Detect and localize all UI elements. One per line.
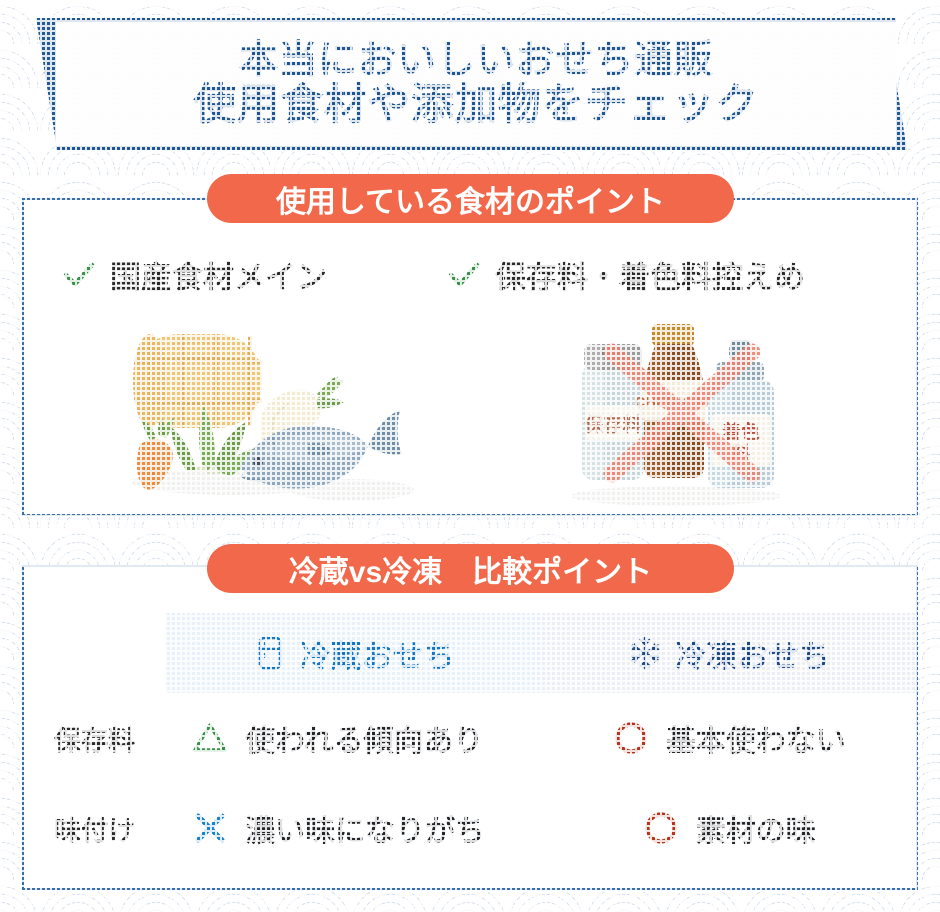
cell-chilled-seasoning: 濃い味になりがち — [165, 783, 542, 873]
table-row: 味付け 濃い味になりがち 素材の味 — [24, 783, 916, 873]
japanese-ingredients-illustration — [112, 322, 424, 508]
checklist-label-additives: 保存料・着色料控えめ — [495, 252, 805, 297]
circle-mark-icon — [612, 719, 650, 757]
circle-mark-icon — [642, 809, 680, 847]
check-icon — [62, 258, 96, 292]
cell-chilled-preservatives-text: 使われる傾向あり — [245, 716, 484, 760]
title-ribbon: 本当においしいおせち通販 使用食材や添加物をチェック — [0, 18, 940, 150]
table-corner-blank — [24, 613, 165, 693]
cell-frozen-preservatives-text: 基本使わない — [666, 716, 846, 760]
cell-frozen-seasoning-text: 素材の味 — [696, 806, 816, 850]
rice-bale-icon — [133, 334, 262, 428]
refrigerator-icon — [252, 635, 288, 671]
checklist-item-additives: 保存料・着色料控えめ — [447, 252, 805, 297]
table-header-row: 冷蔵おせち — [24, 613, 916, 693]
svg-text:着色: 着色 — [722, 420, 760, 443]
row-label-seasoning: 味付け — [24, 783, 165, 873]
table-header-chilled: 冷蔵おせち — [165, 613, 542, 693]
table-header-chilled-label: 冷蔵おせち — [300, 631, 455, 676]
page-title-line-2: 使用食材や添加物をチェック — [193, 82, 759, 128]
check-icon — [447, 258, 481, 292]
additive-bottles-crossed-out-illustration: 保存料 CHEMICAL 着色 料 — [556, 318, 806, 510]
triangle-mark-icon — [191, 719, 229, 757]
cell-frozen-preservatives: 基本使わない — [542, 693, 916, 783]
cell-chilled-preservatives: 使われる傾向あり — [165, 693, 542, 783]
checklist-item-domestic: 国産食材メイン — [62, 252, 327, 297]
ingredients-section-heading: 使用している食材のポイント — [207, 174, 734, 223]
table-header-frozen: 冷凍おせち — [542, 613, 916, 693]
row-label-preservatives: 保存料 — [24, 693, 165, 783]
cross-mark-icon — [191, 809, 229, 847]
ribbon-body: 本当においしいおせち通販 使用食材や添加物をチェック — [56, 18, 896, 150]
cell-chilled-seasoning-text: 濃い味になりがち — [245, 806, 485, 850]
table-row: 保存料 使われる傾向あり 基本使わない — [24, 693, 916, 783]
snowflake-icon — [627, 635, 663, 671]
svg-text:保存料: 保存料 — [583, 413, 641, 436]
infographic-page: 本当においしいおせち通販 使用食材や添加物をチェック 使用している食材のポイント… — [0, 0, 940, 912]
page-title-line-1: 本当においしいおせち通販 — [239, 40, 713, 82]
comparison-section-heading: 冷蔵vs冷凍 比較ポイント — [207, 544, 734, 593]
table-header-frozen-label: 冷凍おせち — [675, 631, 830, 676]
checklist-label-domestic: 国産食材メイン — [110, 252, 327, 297]
comparison-table: 冷蔵おせち — [24, 613, 916, 873]
cell-frozen-seasoning: 素材の味 — [542, 783, 916, 873]
